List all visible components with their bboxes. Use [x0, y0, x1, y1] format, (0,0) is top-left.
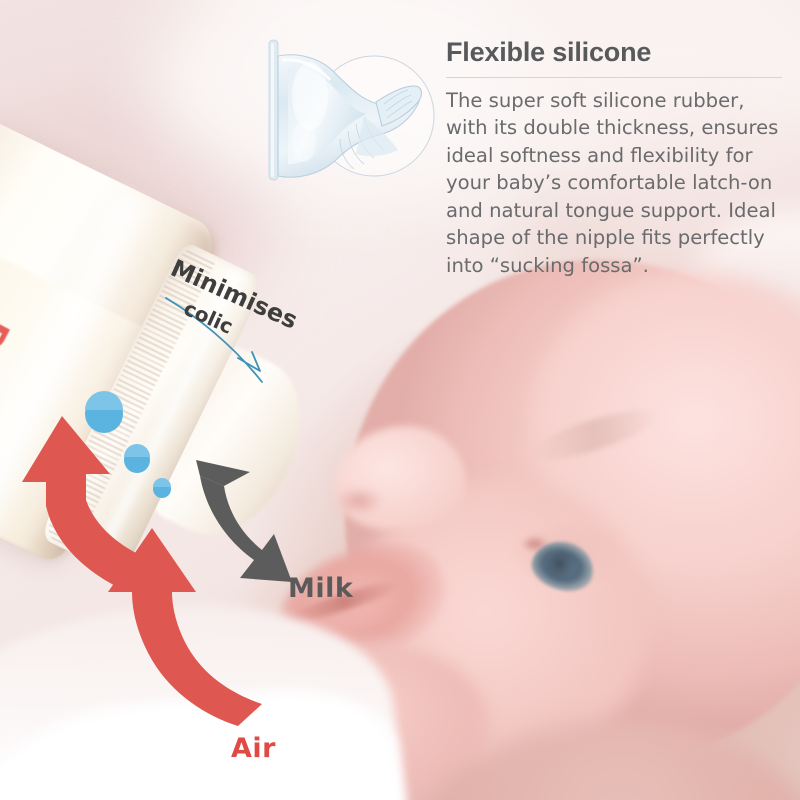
baby-nose: [334, 426, 466, 530]
silicone-nipple-diagram: [258, 34, 438, 196]
baby-pupil: [546, 552, 576, 578]
infographic-canvas: Pigeon Minimises colic Milk Air Flexible: [0, 0, 800, 800]
feature-text-panel: Flexible silicone The super soft silicon…: [446, 38, 784, 279]
air-label: Air: [231, 733, 276, 764]
feature-heading: Flexible silicone: [446, 38, 784, 68]
heading-divider: [446, 77, 782, 78]
milk-label: Milk: [288, 573, 353, 604]
baby-nostril: [336, 488, 382, 514]
feature-body-text: The super soft silicone rubber, with its…: [446, 87, 784, 280]
